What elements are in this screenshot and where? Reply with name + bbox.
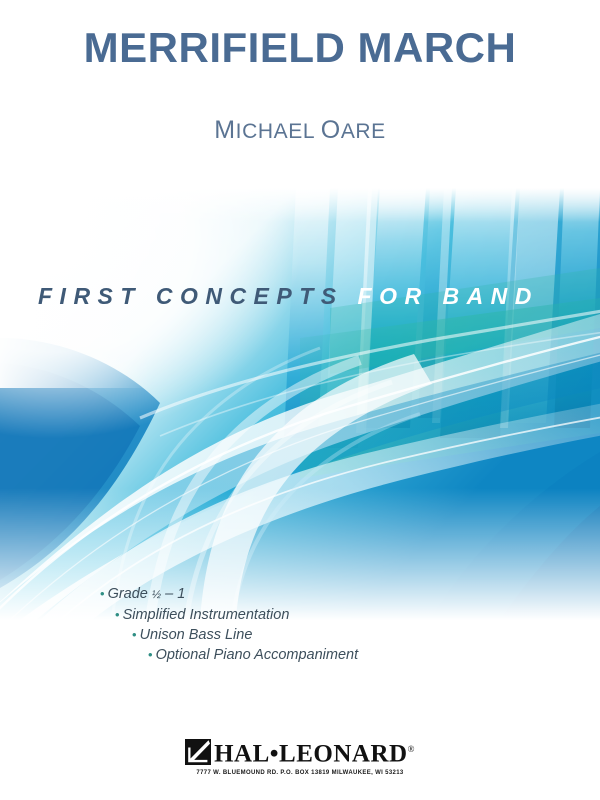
sheet-music-cover: MERRIFIELD MARCH MICHAEL OARE (0, 0, 600, 800)
series-name-primary: FIRST CONCEPTS (38, 283, 344, 309)
publisher-name-part-one: HAL (214, 740, 270, 767)
publisher-block: HAL•LEONARD® 7777 W. BLUEMOUND RD. P.O. … (0, 736, 600, 776)
list-item: •Unison Bass Line (0, 625, 600, 645)
composer-name: MICHAEL OARE (0, 116, 600, 145)
feature-label: Simplified Instrumentation (123, 607, 290, 623)
feature-list: •Grade ½ – 1 •Simplified Instrumentation… (0, 584, 600, 665)
feature-label: Unison Bass Line (140, 627, 253, 643)
bullet-icon: • (115, 607, 120, 622)
list-item: •Grade ½ – 1 (0, 584, 600, 605)
page-title: MERRIFIELD MARCH (0, 26, 600, 70)
registered-trademark-icon: ® (408, 744, 415, 754)
publisher-logo-row: HAL•LEONARD® (0, 736, 600, 767)
bullet-icon: • (132, 627, 137, 642)
cover-artwork (0, 188, 600, 620)
series-banner: FIRST CONCEPTS FOR BAND (38, 283, 539, 310)
list-item: •Optional Piano Accompaniment (0, 645, 600, 665)
publisher-separator-icon: • (270, 740, 279, 767)
feature-label: Optional Piano Accompaniment (156, 647, 359, 663)
hal-leonard-logo-icon (185, 739, 211, 765)
bullet-icon: • (100, 586, 105, 601)
title-block: MERRIFIELD MARCH MICHAEL OARE (0, 0, 600, 145)
bullet-icon: • (148, 647, 153, 662)
list-item: •Simplified Instrumentation (0, 605, 600, 625)
series-name-secondary: FOR BAND (358, 283, 539, 309)
feature-label: Grade ½ – 1 (108, 586, 186, 602)
publisher-wordmark: HAL•LEONARD® (214, 736, 415, 767)
abstract-blue-ribbon-graphic (0, 188, 600, 620)
publisher-name-part-two: LEONARD (279, 740, 408, 767)
publisher-address: 7777 W. BLUEMOUND RD. P.O. BOX 13819 MIL… (0, 770, 600, 776)
